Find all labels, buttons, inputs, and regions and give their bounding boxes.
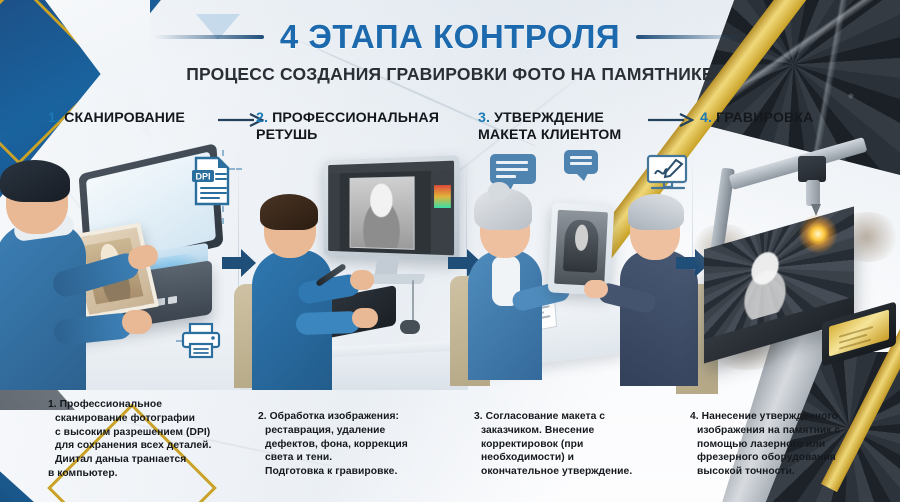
caption-2-line-1: 2. Обработка изображения: <box>258 410 458 424</box>
caption-step-3: 3. Согласование макета с заказчиком. Вне… <box>474 410 674 479</box>
illustration-approval <box>468 150 694 390</box>
step-number-4: 4. <box>700 110 712 126</box>
caption-1-line-2: сканирование фотографии <box>48 412 248 426</box>
step-number-2: 2. <box>256 110 268 126</box>
caption-4-line-3: помощью лазерного или <box>690 438 895 452</box>
color-swatch-icon <box>434 185 451 208</box>
step-title-3: УТВЕРЖДЕНИЕ <box>494 110 604 126</box>
retoucher-arm-lower <box>296 311 361 335</box>
step-header-2: 2. ПРОФЕССИОНАЛЬНАЯ РЕТУШЬ <box>256 110 439 145</box>
caption-2-line-5: Подготовка к гравировке. <box>258 465 458 479</box>
caption-step-4: 4. Нанесение утвержденного изображения н… <box>690 410 895 479</box>
step-title-3-line2: МАКЕТА КЛИЕНТОМ <box>478 127 621 143</box>
speech-bubble-right <box>564 150 598 174</box>
monitor-stand <box>375 256 400 276</box>
engraver-head <box>798 156 826 182</box>
editor-tool-panel <box>328 173 340 251</box>
step-header-3: 3. УТВЕРЖДЕНИЕ МАКЕТА КЛИЕНТОМ <box>478 110 621 145</box>
step-header-4: 4. ГРАВИРОВКА <box>700 110 814 127</box>
caption-1-line-4: для сохранения всех деталей. <box>48 439 248 453</box>
manager-hair <box>628 194 684 230</box>
manager-hand <box>584 280 608 298</box>
caption-3-line-3: корректировок (при <box>474 438 674 452</box>
step-title-2: ПРОФЕССИОНАЛЬНАЯ <box>272 110 439 126</box>
step-headers: 1. СКАНИРОВАНИЕ 2. ПРОФЕССИОНАЛЬНАЯ РЕТУ… <box>0 106 900 152</box>
caption-1-line-5: Диитал даныа транıается <box>48 453 248 467</box>
header: 4 ЭТАПА КОНТРОЛЯ ПРОЦЕСС СОЗДАНИЯ ГРАВИР… <box>0 18 900 85</box>
retoucher-hand-lower <box>352 308 378 328</box>
caption-3-line-1: 3. Согласование макета с <box>474 410 674 424</box>
caption-2-line-2: реставрация, удаление <box>258 424 458 438</box>
title-rule-right <box>636 35 746 39</box>
illustration-retouching <box>240 150 468 390</box>
title-rule-left <box>154 35 264 39</box>
engraving-spark <box>798 214 838 254</box>
caption-2-line-4: света и тени. <box>258 451 458 465</box>
person-hair <box>0 160 70 202</box>
printer-icon <box>180 322 222 360</box>
caption-3-line-4: необходимости) и <box>474 451 674 465</box>
page-title: 4 ЭТАПА КОНТРОЛЯ <box>280 18 620 56</box>
illustration-engraving <box>694 150 900 390</box>
dashed-connector-doc-down <box>222 206 224 224</box>
client-hair-bun <box>488 182 510 200</box>
client-woman <box>464 180 542 330</box>
step-number-3: 3. <box>478 110 490 126</box>
person-operator-body <box>0 222 86 390</box>
monitor-screen <box>328 161 454 256</box>
caption-1-line-6: в компьютер. <box>48 467 248 481</box>
caption-step-2: 2. Обработка изображения: реставрация, у… <box>258 410 458 479</box>
caption-4-line-5: высокой точности. <box>690 465 895 479</box>
infographic-root: 4 ЭТАПА КОНТРОЛЯ ПРОЦЕСС СОЗДАНИЯ ГРАВИР… <box>0 0 900 502</box>
monitor <box>324 155 460 261</box>
step-title-4: ГРАВИРОВКА <box>716 110 813 126</box>
step-title-2-line2: РЕТУШЬ <box>256 127 317 143</box>
monument-design-preview <box>563 219 600 273</box>
step-number-1: 1. <box>48 110 60 126</box>
step-header-1: 1. СКАНИРОВАНИЕ <box>48 110 185 127</box>
tablet-screen <box>554 210 608 287</box>
caption-4-line-4: фрезерного оборудования <box>690 451 895 465</box>
caption-3-line-5: окончательное утверждение. <box>474 465 674 479</box>
mouse-cable <box>412 280 414 322</box>
caption-2-line-3: дефектов, фона, коррекция <box>258 438 458 452</box>
editor-right-panel <box>431 170 454 255</box>
edited-portrait-preview <box>350 176 415 250</box>
retoucher-hand-upper <box>350 270 374 290</box>
caption-4-line-1: 4. Нанесение утвержденного <box>690 410 895 424</box>
svg-text:DPI: DPI <box>195 172 210 182</box>
caption-3-line-2: заказчиком. Внесение <box>474 424 674 438</box>
person-hand-lower <box>122 310 152 334</box>
caption-step-1: 1. Профессиональное сканирование фотогра… <box>48 398 248 481</box>
header-arrow-3-4 <box>648 112 694 128</box>
engraver-spindle <box>806 180 820 206</box>
page-subtitle: ПРОЦЕСС СОЗДАНИЯ ГРАВИРОВКИ ФОТО НА ПАМЯ… <box>0 64 900 85</box>
mouse-icon <box>400 320 420 334</box>
retoucher-hair <box>260 194 318 230</box>
step-title-1: СКАНИРОВАНИЕ <box>64 110 185 126</box>
caption-4-line-2: изображения на памятник с <box>690 424 895 438</box>
document-dpi-icon: DPI <box>188 156 234 206</box>
caption-1-line-3: с высоким разрешением (DPI) <box>48 426 248 440</box>
caption-1-line-1: 1. Профессиональное <box>48 398 248 412</box>
